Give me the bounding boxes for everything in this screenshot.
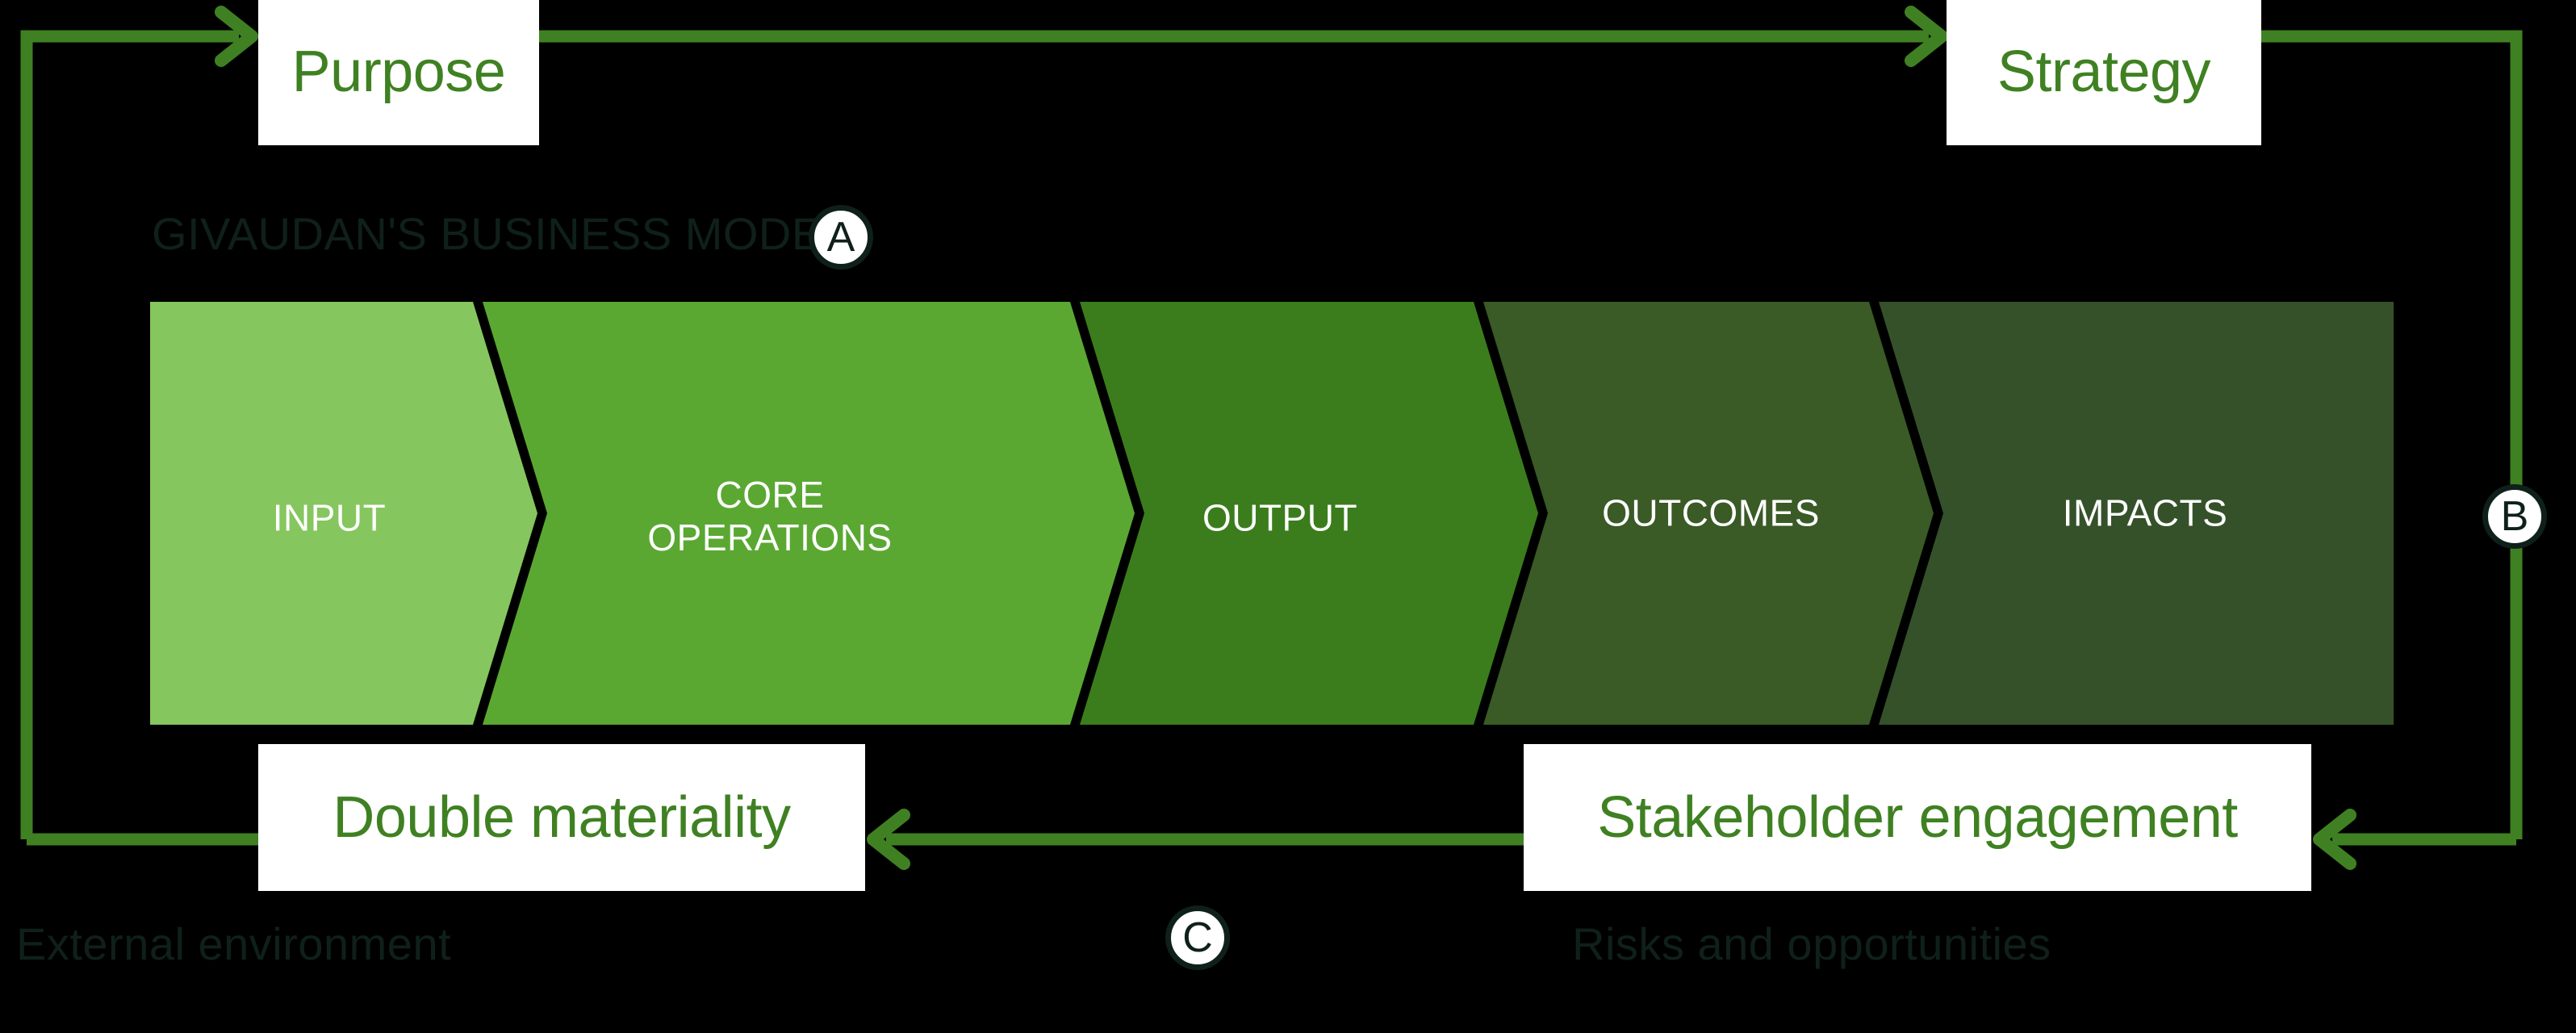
node-stakeholder-engagement-label: Stakeholder engagement xyxy=(1597,788,2238,847)
business-model-diagram: INPUT CORE OPERATIONS OUTPUT OUTCOMES IM… xyxy=(0,0,2576,1033)
node-strategy[interactable]: Strategy xyxy=(1947,0,2261,145)
node-stakeholder-engagement[interactable]: Stakeholder engagement xyxy=(1524,744,2311,891)
chevron-core-operations xyxy=(483,302,1135,725)
label-risks-and-opportunities: Risks and opportunities xyxy=(1572,922,2051,967)
arrowhead-into-purpose xyxy=(221,12,252,61)
chevron-outcomes xyxy=(1483,302,1934,725)
chevron-input xyxy=(150,302,537,725)
marker-c-badge[interactable]: C xyxy=(1165,905,1230,970)
chevron-shapes xyxy=(150,302,2394,725)
node-strategy-label: Strategy xyxy=(1997,43,2210,101)
marker-c-label: C xyxy=(1182,917,1213,959)
node-double-materiality-label: Double materiality xyxy=(332,788,790,847)
arrowhead-into-double xyxy=(873,815,904,864)
arrowhead-into-stakeholder xyxy=(2319,815,2350,864)
arrowhead-into-strategy xyxy=(1911,12,1942,61)
page-title: GIVAUDAN'S BUSINESS MODEL xyxy=(152,211,847,257)
chevron-impacts xyxy=(1879,302,2394,725)
node-purpose-label: Purpose xyxy=(292,43,506,101)
chevron-output xyxy=(1080,302,1538,725)
marker-a-badge[interactable]: A xyxy=(809,205,873,270)
marker-a-label: A xyxy=(827,216,855,258)
marker-b-label: B xyxy=(2501,496,2529,537)
node-purpose[interactable]: Purpose xyxy=(258,0,539,145)
value-chain-chevrons: INPUT CORE OPERATIONS OUTPUT OUTCOMES IM… xyxy=(150,302,2394,725)
marker-b-badge[interactable]: B xyxy=(2482,484,2547,549)
label-external-environment: External environment xyxy=(16,922,451,967)
node-double-materiality[interactable]: Double materiality xyxy=(258,744,865,891)
